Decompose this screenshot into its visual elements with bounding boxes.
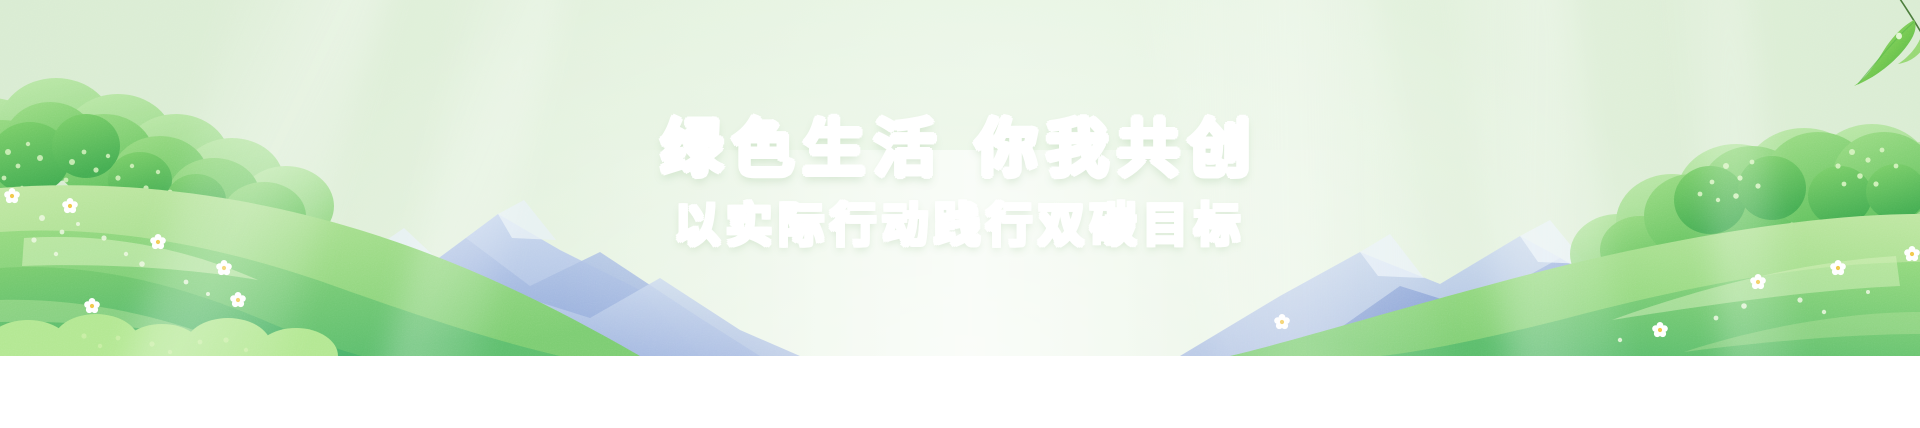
scenery-stage: 绿色生活 你我共创 以实际行动践行双碳目标 — [0, 0, 1920, 356]
bottom-filler — [0, 356, 1920, 428]
top-right-leaf-sprig — [1840, 0, 1920, 94]
eco-banner: 绿色生活 你我共创 以实际行动践行双碳目标 — [0, 0, 1920, 428]
right-flower-group — [0, 0, 1920, 356]
